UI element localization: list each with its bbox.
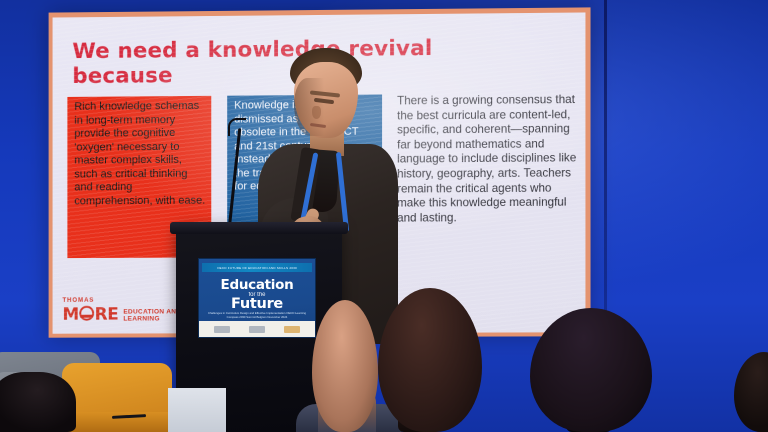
logo-tagline-line1: EDUCATION AND [123,308,181,316]
podium-sign-subtitle: Challenges in Curriculum Design and Effe… [205,311,309,319]
white-panel [168,388,226,432]
podium-sign-banner-text: OECD FUTURE OF EDUCATION AND SKILLS 2030 [217,266,297,270]
logo-tagline-line2: LEARNING [123,316,181,324]
podium-sign-sponsor-row [199,321,315,337]
podium-sign: OECD FUTURE OF EDUCATION AND SKILLS 2030… [198,258,316,338]
sponsor-logo-icon-3 [284,326,300,333]
slide-column-plain: There is a growing consensus that the be… [395,93,582,226]
podium-sign-title: Education for the Future [199,277,315,312]
logo-tagline: EDUCATION AND LEARNING [123,308,181,323]
podium-sign-title-connector: for the [199,292,315,298]
logo-thomas-text: THOMAS [62,297,118,303]
slide-column-plain-text: There is a growing consensus that the be… [395,93,582,226]
logo-more-text: MRE [62,305,118,324]
slide-column-red-text: Rich knowledge schemas in long-term memo… [67,96,211,209]
audience-head-dark-hair-center [530,308,652,432]
podium-top-ledge [170,222,348,234]
podium-sign-banner: OECD FUTURE OF EDUCATION AND SKILLS 2030 [202,263,312,272]
audience-head-bald [312,300,378,432]
sponsor-logo-icon-1 [214,326,230,333]
speaker-nose [312,106,321,119]
logo-wordmark: THOMAS MRE [62,297,118,323]
podium-sign-title-line1: Education [199,277,315,293]
sponsor-logo-icon-2 [249,326,265,333]
audience-head-left-edge [0,372,76,432]
logo-o-ring-icon [79,306,94,321]
thomas-more-logo: THOMAS MRE EDUCATION AND LEARNING [62,297,181,323]
podium-sign-title-line2: Future [199,296,315,312]
